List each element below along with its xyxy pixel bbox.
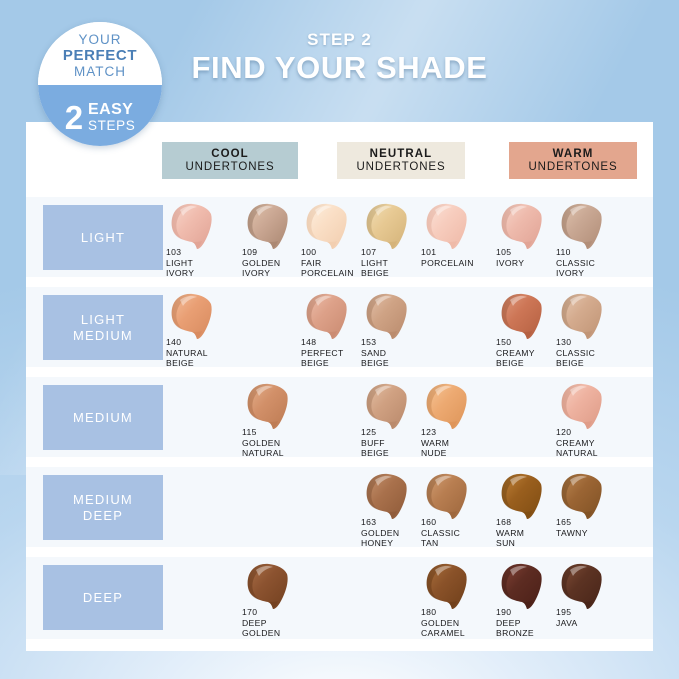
shade-label: 103LIGHTIVORY (166, 247, 194, 279)
shade-label: 107LIGHTBEIGE (361, 247, 389, 279)
swatch-180[interactable] (421, 561, 477, 613)
shade-row: MEDIUMDEEP 163GOLDENHONEY (26, 467, 653, 547)
badge-easy-steps: EASY STEPS (88, 102, 135, 133)
shade-name-line: LIGHT (361, 258, 389, 269)
shade-name-line: CREAMY (556, 438, 598, 449)
shade-label: 153SANDBEIGE (361, 337, 389, 369)
shade-name-line: WARM (421, 438, 449, 449)
row-label-light-medium: LIGHTMEDIUM (43, 295, 163, 360)
swatch-153[interactable] (361, 291, 417, 343)
row-label-medium-deep: MEDIUMDEEP (43, 475, 163, 540)
shade-name-line: BEIGE (166, 358, 208, 369)
shade-code: 115 (242, 427, 284, 438)
shade-label: 100FAIRPORCELAIN (301, 247, 354, 279)
shade-code: 130 (556, 337, 595, 348)
swatch-109[interactable] (242, 201, 298, 253)
shade-name-line: GOLDEN (242, 258, 280, 269)
foundation-swatch-shape (496, 291, 552, 343)
shade-cell[interactable]: 101PORCELAIN (418, 197, 494, 277)
foundation-swatch-shape (556, 471, 612, 523)
row-label-deep: DEEP (43, 565, 163, 630)
undertone-sublabel: UNDERTONES (356, 161, 445, 174)
shade-code: 100 (301, 247, 354, 258)
shade-code: 150 (496, 337, 535, 348)
shade-name-line: SAND (361, 348, 389, 359)
badge-label-steps: STEPS (88, 119, 135, 133)
shade-label: 109GOLDENIVORY (242, 247, 280, 279)
shade-name-line: BEIGE (301, 358, 344, 369)
shade-code: 103 (166, 247, 194, 258)
shade-code: 160 (421, 517, 460, 528)
shade-name-line: BEIGE (361, 268, 389, 279)
shade-name-line: HONEY (361, 538, 399, 549)
shade-row: LIGHTMEDIUM 140NATURALBEIGE (26, 287, 653, 367)
undertone-header-neutral: NEUTRALUNDERTONES (337, 142, 465, 179)
shade-code: 125 (361, 427, 389, 438)
shade-name-line: JAVA (556, 618, 578, 629)
swatch-105[interactable] (496, 201, 552, 253)
shade-label: 150CREAMYBEIGE (496, 337, 535, 369)
foundation-swatch-shape (242, 381, 298, 433)
shade-code: 120 (556, 427, 598, 438)
foundation-swatch-shape (421, 561, 477, 613)
row-label-medium: MEDIUM (43, 385, 163, 450)
foundation-swatch-shape (361, 381, 417, 433)
shade-cell[interactable]: 120CREAMYNATURAL (553, 377, 629, 457)
swatch-100[interactable] (301, 201, 357, 253)
badge-top-section: YOUR PERFECT MATCH (38, 22, 162, 85)
shade-name-line: PORCELAIN (421, 258, 474, 269)
shade-name-line: IVORY (166, 268, 194, 279)
shade-row: LIGHT 103LIGHTIVORY (26, 197, 653, 277)
shade-label: 148PERFECTBEIGE (301, 337, 344, 369)
shade-name-line: IVORY (556, 268, 595, 279)
foundation-swatch-shape (361, 291, 417, 343)
perfect-match-badge: YOUR PERFECT MATCH 2 EASY STEPS (38, 22, 162, 146)
foundation-swatch-shape (556, 561, 612, 613)
swatch-130[interactable] (556, 291, 612, 343)
shade-code: 163 (361, 517, 399, 528)
shade-code: 105 (496, 247, 524, 258)
swatch-168[interactable] (496, 471, 552, 523)
shade-name-line: BEIGE (361, 448, 389, 459)
shade-code: 107 (361, 247, 389, 258)
shade-name-line: GOLDEN (361, 528, 399, 539)
undertone-name: WARM (553, 148, 594, 161)
foundation-swatch-shape (166, 291, 222, 343)
shade-name-line: IVORY (242, 268, 280, 279)
shade-cell[interactable]: 195JAVA (553, 557, 629, 639)
badge-line-your: YOUR (78, 32, 121, 47)
shade-name-line: IVORY (496, 258, 524, 269)
swatch-101[interactable] (421, 201, 477, 253)
shade-name-line: LIGHT (166, 258, 194, 269)
shade-name-line: NATURAL (242, 448, 284, 459)
swatch-110[interactable] (556, 201, 612, 253)
shade-name-line: TAN (421, 538, 460, 549)
undertone-header-cool: COOLUNDERTONES (162, 142, 298, 179)
undertone-name: COOL (211, 148, 249, 161)
shade-label: 120CREAMYNATURAL (556, 427, 598, 459)
shade-name-line: DEEP (496, 618, 534, 629)
shade-label: 140NATURALBEIGE (166, 337, 208, 369)
shade-code: 170 (242, 607, 280, 618)
foundation-swatch-shape (556, 291, 612, 343)
row-label-text: LIGHTMEDIUM (73, 312, 133, 344)
shade-cell[interactable]: 153SANDBEIGE (358, 287, 434, 367)
swatch-165[interactable] (556, 471, 612, 523)
row-label-text: MEDIUM (73, 410, 133, 426)
shade-name-line: PERFECT (301, 348, 344, 359)
shade-name-line: DEEP (242, 618, 280, 629)
shade-name-line: BEIGE (361, 358, 389, 369)
shade-cell[interactable]: 165TAWNY (553, 467, 629, 547)
shade-label: 101PORCELAIN (421, 247, 474, 268)
swatch-160[interactable] (421, 471, 477, 523)
shade-code: 180 (421, 607, 465, 618)
shade-name-line: CLASSIC (421, 528, 460, 539)
shade-name-line: BUFF (361, 438, 389, 449)
row-label-text: MEDIUMDEEP (73, 492, 133, 524)
shade-cell[interactable]: 110CLASSICIVORY (553, 197, 629, 277)
swatch-103[interactable] (166, 201, 222, 253)
shade-code: 153 (361, 337, 389, 348)
swatch-148[interactable] (301, 291, 357, 343)
shade-name-line: CLASSIC (556, 348, 595, 359)
shade-label: 190DEEPBRONZE (496, 607, 534, 639)
shade-label: 123WARMNUDE (421, 427, 449, 459)
shade-label: 105IVORY (496, 247, 524, 268)
shade-name-line: BEIGE (556, 358, 595, 369)
badge-label-easy: EASY (88, 102, 135, 118)
undertone-name: NEUTRAL (370, 148, 433, 161)
shade-label: 160CLASSICTAN (421, 517, 460, 549)
shade-code: 195 (556, 607, 578, 618)
foundation-swatch-shape (556, 381, 612, 433)
shade-name-line: TAWNY (556, 528, 588, 539)
swatch-120[interactable] (556, 381, 612, 433)
shade-label: 168WARMSUN (496, 517, 524, 549)
shade-name-line: SUN (496, 538, 524, 549)
swatch-107[interactable] (361, 201, 417, 253)
swatch-115[interactable] (242, 381, 298, 433)
shade-label: 195JAVA (556, 607, 578, 628)
badge-line-perfect: PERFECT (63, 47, 137, 64)
undertone-header-warm: WARMUNDERTONES (509, 142, 637, 179)
shade-cell[interactable]: 170DEEPGOLDEN (239, 557, 315, 639)
shade-code: 140 (166, 337, 208, 348)
foundation-swatch-shape (496, 471, 552, 523)
foundation-swatch-shape (242, 561, 298, 613)
shade-cell[interactable]: 160CLASSICTAN (418, 467, 494, 547)
shade-label: 163GOLDENHONEY (361, 517, 399, 549)
shade-label: 110CLASSICIVORY (556, 247, 595, 279)
foundation-swatch-shape (242, 201, 298, 253)
swatch-163[interactable] (361, 471, 417, 523)
foundation-swatch-shape (421, 381, 477, 433)
shade-cell[interactable]: 140NATURALBEIGE (163, 287, 239, 367)
row-label-text: DEEP (83, 590, 123, 606)
badge-step-count: 2 (65, 101, 83, 134)
shade-code: 168 (496, 517, 524, 528)
undertone-sublabel: UNDERTONES (528, 161, 617, 174)
row-label-light: LIGHT (43, 205, 163, 270)
shade-code: 190 (496, 607, 534, 618)
shade-code: 123 (421, 427, 449, 438)
shade-name-line: FAIR (301, 258, 354, 269)
shade-name-line: CREAMY (496, 348, 535, 359)
swatch-195[interactable] (556, 561, 612, 613)
foundation-swatch-shape (421, 201, 477, 253)
foundation-swatch-shape (301, 291, 357, 343)
foundation-swatch-shape (496, 561, 552, 613)
shade-code: 110 (556, 247, 595, 258)
shade-name-line: WARM (496, 528, 524, 539)
shade-label: 180GOLDENCARAMEL (421, 607, 465, 639)
shade-cell[interactable]: 103LIGHTIVORY (163, 197, 239, 277)
swatch-123[interactable] (421, 381, 477, 433)
swatch-190[interactable] (496, 561, 552, 613)
shade-name-line: NATURAL (556, 448, 598, 459)
shade-label: 170DEEPGOLDEN (242, 607, 280, 639)
shade-name-line: CARAMEL (421, 628, 465, 639)
foundation-swatch-shape (496, 201, 552, 253)
shade-cell[interactable]: 123WARMNUDE (418, 377, 494, 457)
foundation-swatch-shape (166, 201, 222, 253)
foundation-swatch-shape (421, 471, 477, 523)
swatch-140[interactable] (166, 291, 222, 343)
shade-finder-poster: STEP 2 FIND YOUR SHADE YOUR PERFECT MATC… (0, 0, 679, 679)
shade-name-line: GOLDEN (242, 628, 280, 639)
undertone-sublabel: UNDERTONES (185, 161, 274, 174)
foundation-swatch-shape (361, 471, 417, 523)
shade-name-line: CLASSIC (556, 258, 595, 269)
shade-name-line: GOLDEN (421, 618, 465, 629)
shade-label: 130CLASSICBEIGE (556, 337, 595, 369)
shade-label: 125BUFFBEIGE (361, 427, 389, 459)
shade-name-line: GOLDEN (242, 438, 284, 449)
foundation-swatch-shape (361, 201, 417, 253)
swatch-125[interactable] (361, 381, 417, 433)
foundation-swatch-shape (556, 201, 612, 253)
swatch-150[interactable] (496, 291, 552, 343)
shade-cell[interactable]: 115GOLDENNATURAL (239, 377, 315, 457)
badge-line-match: MATCH (74, 64, 126, 80)
shade-cell[interactable]: 130CLASSICBEIGE (553, 287, 629, 367)
shade-label: 115GOLDENNATURAL (242, 427, 284, 459)
shade-name-line: NATURAL (166, 348, 208, 359)
row-label-text: LIGHT (81, 230, 125, 246)
shade-name-line: BEIGE (496, 358, 535, 369)
shade-name-line: PORCELAIN (301, 268, 354, 279)
shade-code: 109 (242, 247, 280, 258)
shade-code: 165 (556, 517, 588, 528)
shade-name-line: NUDE (421, 448, 449, 459)
shade-code: 101 (421, 247, 474, 258)
shade-row: DEEP 170DEEPGOLDEN (26, 557, 653, 639)
swatch-170[interactable] (242, 561, 298, 613)
shade-row: MEDIUM 115GOLDENNATURAL (26, 377, 653, 457)
shade-chart-card: COOLUNDERTONESNEUTRALUNDERTONESWARMUNDER… (26, 122, 653, 651)
shade-code: 148 (301, 337, 344, 348)
shade-label: 165TAWNY (556, 517, 588, 538)
shade-name-line: BRONZE (496, 628, 534, 639)
shade-cell[interactable]: 180GOLDENCARAMEL (418, 557, 494, 639)
foundation-swatch-shape (301, 201, 357, 253)
badge-bottom-section: 2 EASY STEPS (38, 85, 162, 146)
